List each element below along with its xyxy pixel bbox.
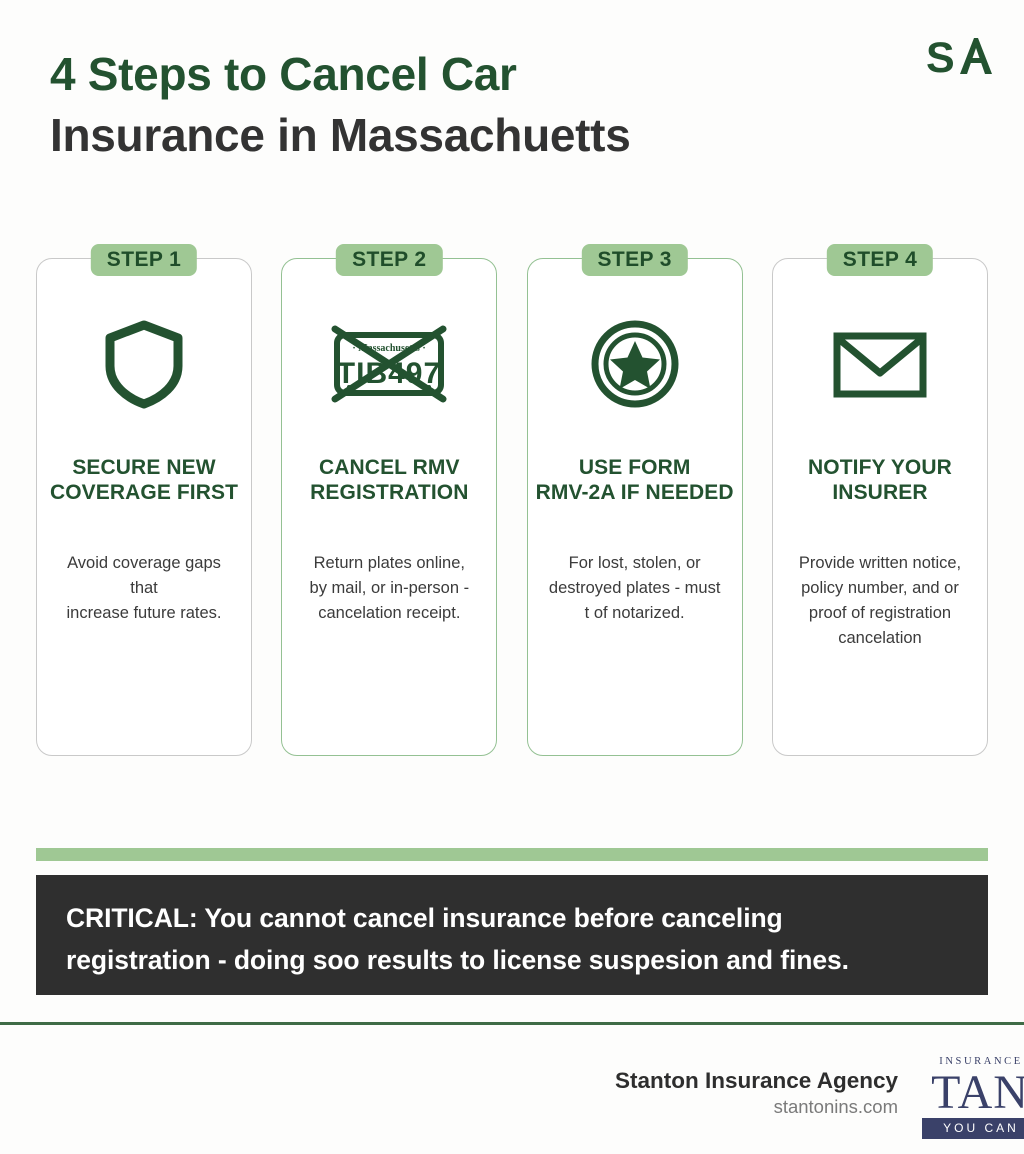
- step-title-2: CANCEL RMV REGISTRATION: [290, 455, 488, 505]
- envelope-icon: [773, 319, 987, 409]
- accent-bar: [36, 848, 988, 861]
- logo-top-text: INSURANCE: [922, 1055, 1024, 1068]
- footer-website[interactable]: stantonins.com: [615, 1094, 898, 1119]
- step-badge-4: STEP 4: [827, 244, 933, 276]
- title-line-primary: 4 Steps to Cancel Car: [50, 44, 810, 105]
- step-card-4[interactable]: STEP 4 NOTIFY YOUR INSURER Provide writt…: [772, 258, 988, 756]
- step-title-3: USE FORM RMV-2A IF NEEDED: [536, 455, 734, 505]
- insurance-you-can-logo: INSURANCE TAN YOU CAN: [918, 1055, 1024, 1141]
- logo-bottom-text: YOU CAN: [922, 1118, 1024, 1139]
- steps-row: STEP 1 SECURE NEW COVERAGE FIRST Avoid c…: [36, 258, 988, 763]
- footer: Stanton Insurance Agency stantonins.com: [0, 1025, 1024, 1154]
- step-body-1: Avoid coverage gaps that increase future…: [47, 551, 241, 626]
- step-body-4: Provide written notice, policy number, a…: [783, 551, 977, 651]
- step-badge-1: STEP 1: [91, 244, 197, 276]
- sa-monogram-logo: S: [926, 34, 996, 80]
- footer-company-name: Stanton Insurance Agency: [615, 1067, 898, 1094]
- step-title-1: SECURE NEW COVERAGE FIRST: [45, 455, 243, 505]
- step-card-3[interactable]: STEP 3 USE FORM RMV-2A IF NEEDED For los…: [527, 258, 743, 756]
- step-body-2: Return plates online, by mail, or in-per…: [292, 551, 486, 626]
- critical-banner: CRITICAL: You cannot cancel insurance be…: [36, 875, 988, 995]
- logo-main-text: TAN: [918, 1068, 1024, 1118]
- step-badge-3: STEP 3: [581, 244, 687, 276]
- footer-text-block: Stanton Insurance Agency stantonins.com: [615, 1067, 898, 1119]
- page-title: 4 Steps to Cancel Car Insurance in Massa…: [50, 44, 810, 166]
- header: 4 Steps to Cancel Car Insurance in Massa…: [0, 0, 1024, 200]
- title-line-secondary: Insurance in Massachuetts: [50, 105, 810, 166]
- notary-star-seal-icon: [528, 319, 742, 409]
- step-body-3: For lost, stolen, or destroyed plates - …: [538, 551, 732, 626]
- infographic-page: 4 Steps to Cancel Car Insurance in Massa…: [0, 0, 1024, 1154]
- svg-text:S: S: [926, 34, 955, 80]
- step-badge-2: STEP 2: [336, 244, 442, 276]
- step-card-1[interactable]: STEP 1 SECURE NEW COVERAGE FIRST Avoid c…: [36, 258, 252, 756]
- step-title-4: NOTIFY YOUR INSURER: [781, 455, 979, 505]
- step-card-2[interactable]: STEP 2 · Massachusetts · TIB497 CANCEL R…: [281, 258, 497, 756]
- shield-icon: [37, 319, 251, 409]
- crossed-license-plate-icon: · Massachusetts · TIB497: [282, 319, 496, 409]
- critical-banner-text: CRITICAL: You cannot cancel insurance be…: [66, 897, 958, 981]
